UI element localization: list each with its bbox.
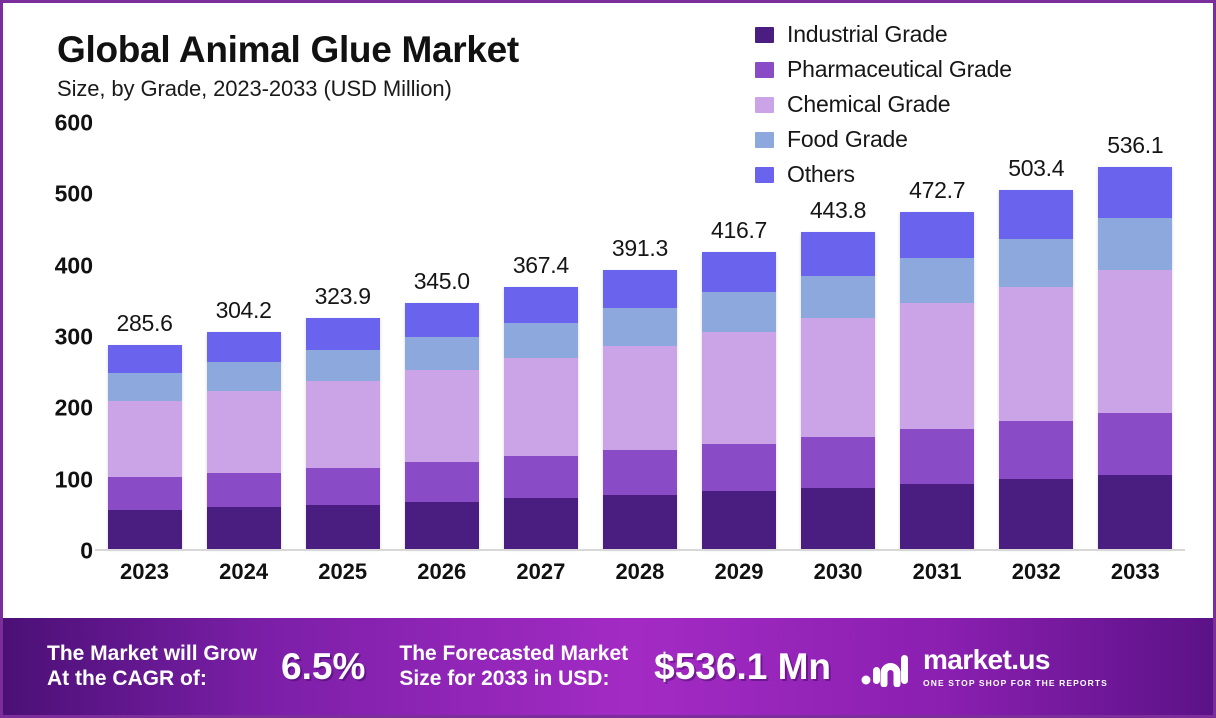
bar-segment[interactable] xyxy=(702,491,776,549)
x-axis-tick-label: 2032 xyxy=(999,559,1073,585)
forecast-label-line1: The Forecasted Market xyxy=(399,642,628,665)
legend-swatch-icon xyxy=(755,97,774,113)
bar-segment[interactable] xyxy=(1098,475,1172,549)
bar-segment[interactable] xyxy=(504,358,578,456)
bar-segment[interactable] xyxy=(1098,270,1172,413)
chart-area: Global Animal Glue Market Size, by Grade… xyxy=(3,3,1213,621)
bar-total-label: 345.0 xyxy=(414,268,470,295)
bar-segment[interactable] xyxy=(603,308,677,346)
forecast-label: The Forecasted Market Size for 2033 in U… xyxy=(399,642,628,690)
bar-segment[interactable] xyxy=(702,332,776,443)
bar-segment[interactable] xyxy=(999,239,1073,287)
bar-segment[interactable] xyxy=(108,477,182,509)
stacked-bar[interactable] xyxy=(1098,167,1172,549)
y-axis-labels: 0100200300400500600 xyxy=(31,123,93,551)
stacked-bar[interactable] xyxy=(603,270,677,549)
stacked-bar[interactable] xyxy=(504,287,578,549)
bar-segment[interactable] xyxy=(405,303,479,337)
bar-segment[interactable] xyxy=(207,332,281,362)
bar-segment[interactable] xyxy=(504,498,578,549)
bar-total-label: 503.4 xyxy=(1008,155,1064,182)
bar-segment[interactable] xyxy=(108,345,182,373)
bar-group[interactable]: 391.3 xyxy=(603,123,677,549)
bar-segment[interactable] xyxy=(999,190,1073,239)
bar-series-container: 285.6304.2323.9345.0367.4391.3416.7443.8… xyxy=(95,123,1185,549)
bar-total-label: 367.4 xyxy=(513,252,569,279)
bar-segment[interactable] xyxy=(900,212,974,258)
bar-segment[interactable] xyxy=(504,287,578,323)
plot-region: 285.6304.2323.9345.0367.4391.3416.7443.8… xyxy=(95,123,1185,551)
bar-segment[interactable] xyxy=(207,473,281,508)
chart-header: Global Animal Glue Market Size, by Grade… xyxy=(57,31,519,102)
bar-segment[interactable] xyxy=(603,495,677,549)
y-axis-tick-label: 400 xyxy=(55,252,93,279)
bar-segment[interactable] xyxy=(801,318,875,436)
stacked-bar[interactable] xyxy=(207,332,281,549)
market-us-logo[interactable]: market.us ONE STOP SHOP FOR THE REPORTS xyxy=(861,646,1108,688)
infographic-page: Global Animal Glue Market Size, by Grade… xyxy=(0,0,1216,718)
cagr-block: The Market will Grow At the CAGR of: 6.5… xyxy=(3,642,365,690)
bar-segment[interactable] xyxy=(900,303,974,429)
bar-segment[interactable] xyxy=(504,323,578,358)
bar-segment[interactable] xyxy=(207,362,281,391)
stacked-bar[interactable] xyxy=(108,345,182,549)
bar-segment[interactable] xyxy=(999,479,1073,549)
x-axis-tick-label: 2027 xyxy=(504,559,578,585)
bar-total-label: 323.9 xyxy=(315,283,371,310)
bar-group[interactable]: 472.7 xyxy=(900,123,974,549)
legend-swatch-icon xyxy=(755,62,774,78)
market-us-logo-icon xyxy=(861,647,913,687)
bar-segment[interactable] xyxy=(306,505,380,550)
bar-group[interactable]: 323.9 xyxy=(306,123,380,549)
y-axis-tick-label: 0 xyxy=(80,538,93,565)
bar-group[interactable]: 285.6 xyxy=(108,123,182,549)
x-axis-tick-label: 2031 xyxy=(900,559,974,585)
bar-total-label: 416.7 xyxy=(711,217,767,244)
bar-segment[interactable] xyxy=(108,373,182,400)
legend-item[interactable]: Pharmaceutical Grade xyxy=(755,52,1012,87)
bar-segment[interactable] xyxy=(801,437,875,488)
bar-segment[interactable] xyxy=(504,456,578,498)
bar-segment[interactable] xyxy=(306,350,380,381)
bar-segment[interactable] xyxy=(306,381,380,468)
page-subtitle: Size, by Grade, 2023-2033 (USD Million) xyxy=(57,76,519,102)
bar-group[interactable]: 416.7 xyxy=(702,123,776,549)
stacked-bar[interactable] xyxy=(999,190,1073,549)
bar-segment[interactable] xyxy=(1098,413,1172,475)
bar-segment[interactable] xyxy=(999,421,1073,479)
x-axis-line xyxy=(95,549,1185,551)
cagr-value: 6.5% xyxy=(281,646,365,688)
stacked-bar[interactable] xyxy=(801,232,875,549)
x-axis-tick-label: 2028 xyxy=(603,559,677,585)
bar-segment[interactable] xyxy=(405,462,479,501)
x-axis-tick-label: 2025 xyxy=(306,559,380,585)
bar-segment[interactable] xyxy=(108,510,182,549)
logo-tagline: ONE STOP SHOP FOR THE REPORTS xyxy=(923,678,1108,688)
bar-segment[interactable] xyxy=(405,337,479,370)
bar-segment[interactable] xyxy=(603,450,677,495)
x-axis-labels: 2023202420252026202720282029203020312032… xyxy=(95,559,1185,585)
y-axis-tick-label: 100 xyxy=(55,466,93,493)
legend-label: Chemical Grade xyxy=(787,91,950,118)
forecast-label-line2: Size for 2033 in USD: xyxy=(399,667,609,690)
cagr-label: The Market will Grow At the CAGR of: xyxy=(47,642,257,690)
bar-segment[interactable] xyxy=(801,276,875,319)
bar-segment[interactable] xyxy=(801,232,875,275)
bottom-banner: The Market will Grow At the CAGR of: 6.5… xyxy=(3,618,1213,715)
bar-segment[interactable] xyxy=(702,252,776,293)
bar-total-label: 443.8 xyxy=(810,197,866,224)
bar-segment[interactable] xyxy=(900,484,974,549)
cagr-label-line2: At the CAGR of: xyxy=(47,667,207,690)
bar-segment[interactable] xyxy=(603,346,677,451)
x-axis-tick-label: 2029 xyxy=(702,559,776,585)
x-axis-tick-label: 2026 xyxy=(405,559,479,585)
bar-total-label: 391.3 xyxy=(612,235,668,262)
bar-segment[interactable] xyxy=(1098,167,1172,219)
bar-total-label: 304.2 xyxy=(216,297,272,324)
x-axis-tick-label: 2024 xyxy=(207,559,281,585)
bar-segment[interactable] xyxy=(702,444,776,492)
bar-group[interactable]: 345.0 xyxy=(405,123,479,549)
stacked-bar[interactable] xyxy=(405,303,479,549)
x-axis-tick-label: 2023 xyxy=(108,559,182,585)
forecast-block: The Forecasted Market Size for 2033 in U… xyxy=(365,642,831,690)
bar-total-label: 536.1 xyxy=(1107,132,1163,159)
bar-segment[interactable] xyxy=(207,391,281,472)
y-axis-tick-label: 300 xyxy=(55,324,93,351)
legend-label: Pharmaceutical Grade xyxy=(787,56,1012,83)
bar-group[interactable]: 367.4 xyxy=(504,123,578,549)
bar-segment[interactable] xyxy=(306,468,380,505)
stacked-bar[interactable] xyxy=(900,212,974,549)
legend-item[interactable]: Chemical Grade xyxy=(755,87,1012,122)
bar-total-label: 472.7 xyxy=(909,177,965,204)
logo-name: market.us xyxy=(923,646,1108,674)
page-title: Global Animal Glue Market xyxy=(57,31,519,70)
bar-group[interactable]: 503.4 xyxy=(999,123,1073,549)
bar-segment[interactable] xyxy=(306,318,380,350)
bar-segment[interactable] xyxy=(603,270,677,308)
legend-swatch-icon xyxy=(755,27,774,43)
stacked-bar[interactable] xyxy=(306,318,380,549)
y-axis-tick-label: 600 xyxy=(55,110,93,137)
bar-segment[interactable] xyxy=(900,258,974,304)
forecast-value: $536.1 Mn xyxy=(654,646,831,688)
bar-segment[interactable] xyxy=(207,507,281,549)
bar-segment[interactable] xyxy=(405,370,479,462)
bar-segment[interactable] xyxy=(702,292,776,332)
bar-group[interactable]: 536.1 xyxy=(1098,123,1172,549)
cagr-label-line1: The Market will Grow xyxy=(47,642,257,665)
x-axis-tick-label: 2033 xyxy=(1098,559,1172,585)
bar-segment[interactable] xyxy=(900,429,974,483)
bar-group[interactable]: 443.8 xyxy=(801,123,875,549)
bar-segment[interactable] xyxy=(801,488,875,549)
y-axis-tick-label: 500 xyxy=(55,181,93,208)
stacked-bar[interactable] xyxy=(702,252,776,549)
market-us-logo-text: market.us ONE STOP SHOP FOR THE REPORTS xyxy=(923,646,1108,688)
bar-segment[interactable] xyxy=(405,502,479,550)
y-axis-tick-label: 200 xyxy=(55,395,93,422)
bar-segment[interactable] xyxy=(1098,218,1172,270)
bar-segment[interactable] xyxy=(999,287,1073,421)
legend-item[interactable]: Industrial Grade xyxy=(755,17,1012,52)
bar-total-label: 285.6 xyxy=(117,310,173,337)
legend-label: Industrial Grade xyxy=(787,21,947,48)
bar-group[interactable]: 304.2 xyxy=(207,123,281,549)
x-axis-tick-label: 2030 xyxy=(801,559,875,585)
bar-segment[interactable] xyxy=(108,401,182,477)
